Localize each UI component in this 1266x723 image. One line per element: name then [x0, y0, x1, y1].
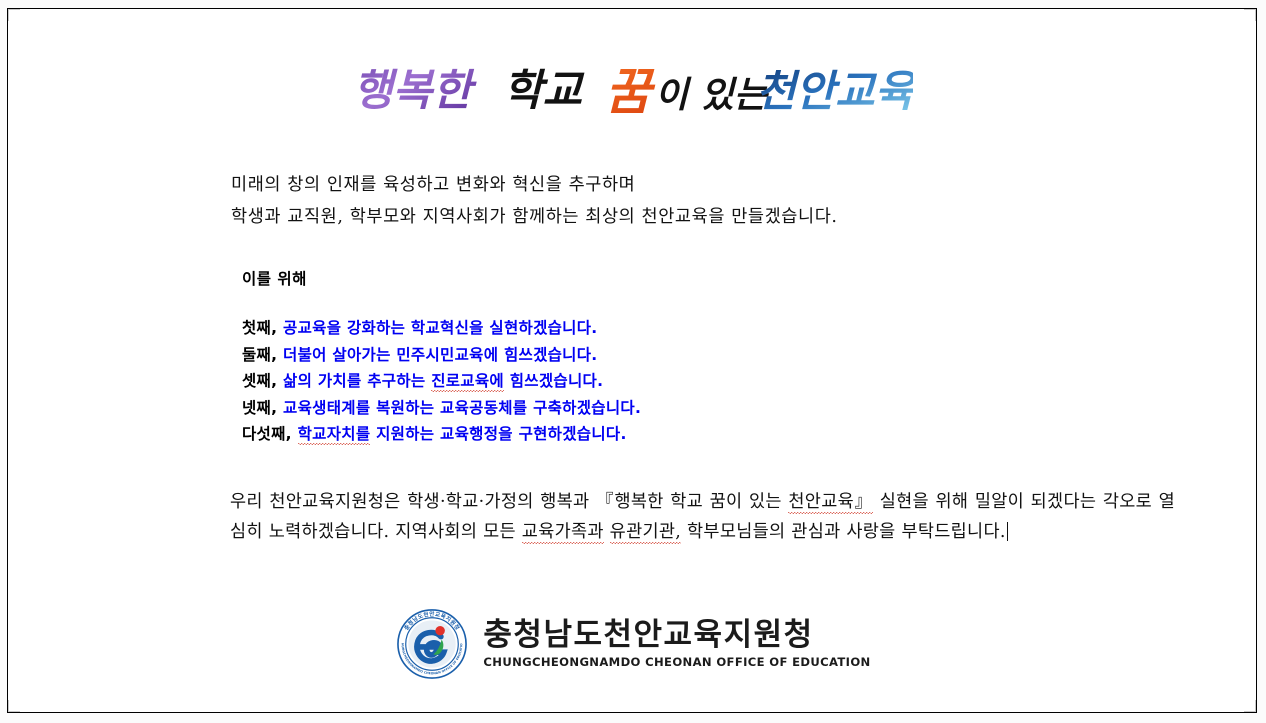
- paragraph-word: 사랑을: [846, 522, 895, 542]
- footer-logo-block: 충청남도천안교육지원청 CHUNGCHEONGNAMDO CHEONAN OFF…: [8, 607, 1257, 685]
- pledge-ordinal: 첫째,: [242, 319, 283, 337]
- text-cursor-caret: [1007, 522, 1008, 541]
- document-page-frame: 행복한 학교 꿈 이 있는 천안교육 미래의 창의 인재를 육성하고 변화와 혁…: [7, 8, 1257, 713]
- paragraph-word: 되겠다는: [1031, 492, 1097, 512]
- paragraph-word: 부탁드립니다.: [901, 522, 1005, 542]
- paragraph-word: 모든: [483, 522, 516, 542]
- paragraph-word: 행복과: [540, 492, 589, 512]
- pledge-list: 첫째, 공교육을 강화하는 학교혁신을 실현하겠습니다.둘째, 더불어 살아가는…: [242, 315, 1142, 448]
- margin-guide-bottom-right-icon: [1244, 700, 1256, 712]
- pledge-ordinal: 셋째,: [242, 372, 283, 390]
- slogan-part-cheonan-education: 천안교육: [756, 67, 913, 117]
- pledge-text: 학교자치를 지원하는 교육행정을 구현하겠습니다.: [298, 425, 627, 445]
- pledge-item: 셋째, 삶의 가치를 추구하는 진로교육에 힘쓰겠습니다.: [242, 368, 1142, 395]
- document-canvas: 행복한 학교 꿈 이 있는 천안교육 미래의 창의 인재를 육성하고 변화와 혁…: [0, 0, 1266, 723]
- office-emblem-icon: 충청남도천안교육지원청 CHUNGCHEONGNAMDO CHEONAN OFF…: [395, 607, 469, 681]
- paragraph-word: 학생·학교·가정의: [407, 492, 534, 512]
- margin-guide-bottom-left-icon: [8, 700, 20, 712]
- paragraph-word: 노력하겠습니다.: [269, 522, 390, 542]
- paragraph-word: 꿈이: [710, 492, 743, 512]
- org-name-korean: 충청남도천안교육지원청: [483, 620, 813, 651]
- paragraph-word: 밀알이: [975, 492, 1024, 512]
- paragraph-word: 학부모님들의: [687, 522, 785, 542]
- slogan-part-with: 이 있는: [655, 75, 770, 116]
- slogan-banner: 행복한 학교 꿈 이 있는 천안교육: [8, 53, 1257, 137]
- spellcheck-underline: 진로교육에: [431, 372, 504, 392]
- closing-paragraph-text: 우리 천안교육지원청은 학생·학교·가정의 행복과 『행복한 학교 꿈이 있는 …: [230, 492, 1175, 544]
- slogan-calligraphy-image: 행복한 학교 꿈 이 있는 천안교육: [353, 53, 913, 133]
- spellcheck-underline: 학교자치를: [298, 425, 371, 445]
- slogan-part-dream: 꿈: [605, 63, 656, 121]
- pledge-text: 공교육을 강화하는 학교혁신을 실현하겠습니다.: [283, 319, 597, 337]
- org-name-english: CHUNGCHEONGNAMDO CHEONAN OFFICE OF EDUCA…: [483, 657, 870, 669]
- spellcheck-underline: 교육가족과: [522, 522, 604, 544]
- intro-block: 미래의 창의 인재를 육성하고 변화와 혁신을 추구하며 학생과 교직원, 학부…: [231, 169, 1191, 233]
- pledge-item: 첫째, 공교육을 강화하는 학교혁신을 실현하겠습니다.: [242, 315, 1142, 342]
- margin-guide-top-left-icon: [8, 9, 20, 21]
- paragraph-word: 있는: [749, 492, 782, 512]
- pledge-item: 다섯째, 학교자치를 지원하는 교육행정을 구현하겠습니다.: [242, 421, 1142, 448]
- paragraph-word: 각오로: [1103, 492, 1152, 512]
- pledge-ordinal: 둘째,: [242, 346, 283, 364]
- paragraph-word: 관심과: [791, 522, 840, 542]
- closing-paragraph: 우리 천안교육지원청은 학생·학교·가정의 행복과 『행복한 학교 꿈이 있는 …: [230, 487, 1175, 547]
- paragraph-word: 지역사회의: [395, 522, 477, 542]
- spellcheck-underline: 유관기관,: [610, 522, 681, 544]
- slogan-part-happy: 행복한: [353, 66, 477, 116]
- pledge-text: 더불어 살아가는 민주시민교육에 힘쓰겠습니다.: [283, 346, 597, 364]
- pledge-ordinal: 넷째,: [242, 399, 283, 417]
- spellcheck-underline: 천안교육』: [788, 492, 873, 514]
- pledge-item: 넷째, 교육생태계를 복원하는 교육공동체를 구축하겠습니다.: [242, 395, 1142, 422]
- slogan-part-school: 학교: [503, 66, 585, 116]
- emblem-red-dot-icon: [436, 626, 445, 635]
- margin-guide-top-right-icon: [1244, 9, 1256, 21]
- paragraph-word: 위해: [936, 492, 969, 512]
- paragraph-word: 『행복한: [596, 492, 664, 512]
- organization-logo: 충청남도천안교육지원청 CHUNGCHEONGNAMDO CHEONAN OFF…: [395, 607, 870, 681]
- paragraph-word: 천안교육지원청은: [269, 492, 400, 512]
- pledge-text: 삶의 가치를 추구하는 진로교육에 힘쓰겠습니다.: [283, 372, 603, 392]
- purpose-heading: 이를 위해: [242, 267, 307, 289]
- organization-name-block: 충청남도천안교육지원청 CHUNGCHEONGNAMDO CHEONAN OFF…: [483, 620, 870, 669]
- paragraph-word: 실현을: [880, 492, 929, 512]
- pledge-ordinal: 다섯째,: [242, 425, 298, 443]
- paragraph-word: 학교: [670, 492, 703, 512]
- pledge-text: 교육생태계를 복원하는 교육공동체를 구축하겠습니다.: [283, 399, 641, 417]
- paragraph-word: 우리: [230, 492, 263, 512]
- pledge-item: 둘째, 더불어 살아가는 민주시민교육에 힘쓰겠습니다.: [242, 342, 1142, 369]
- intro-line-1: 미래의 창의 인재를 육성하고 변화와 혁신을 추구하며: [231, 169, 1191, 201]
- intro-line-2: 학생과 교직원, 학부모와 지역사회가 함께하는 최상의 천안교육을 만들겠습니…: [231, 201, 1191, 233]
